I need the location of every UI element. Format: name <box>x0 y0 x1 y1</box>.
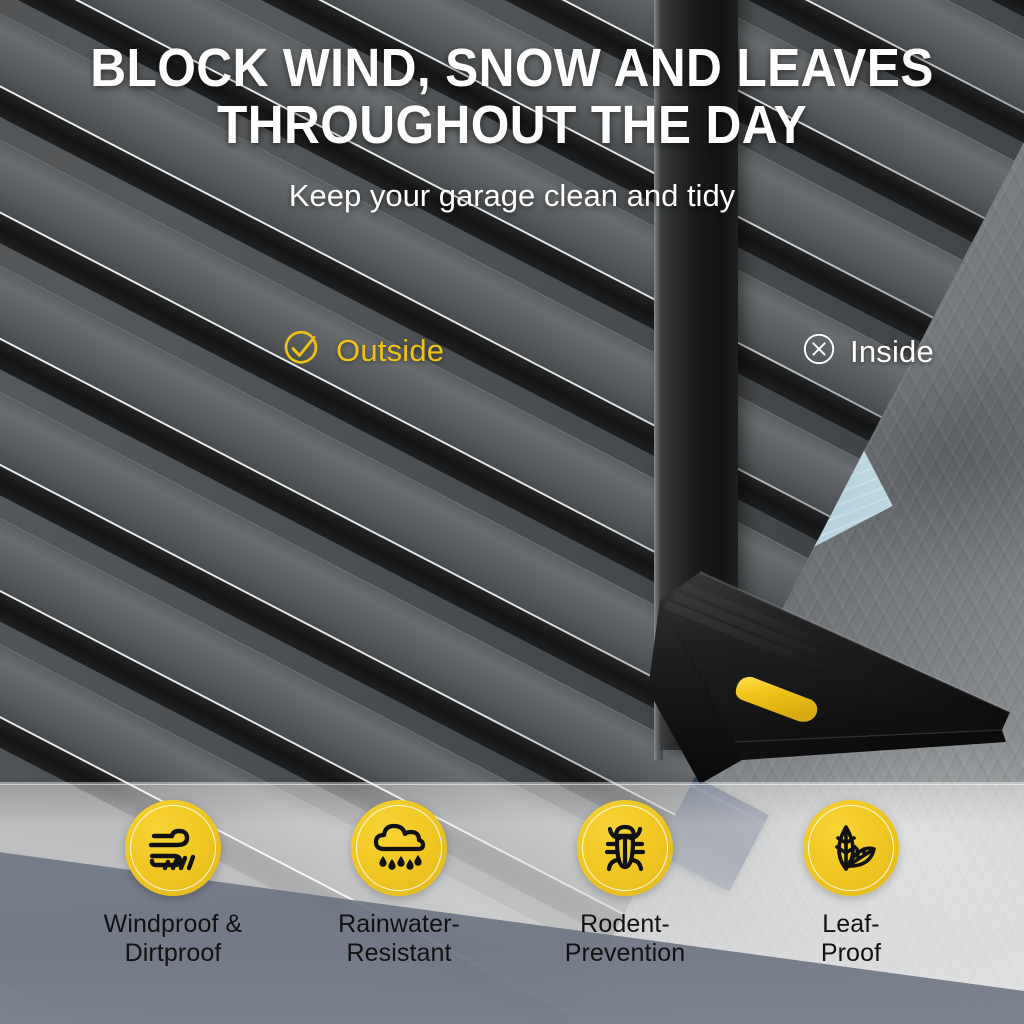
feature-label-line-2: Prevention <box>565 939 686 968</box>
feature-label: Leaf- Proof <box>821 910 881 968</box>
feature-leaf: Leaf- Proof <box>738 800 964 968</box>
feature-badge <box>125 800 221 896</box>
feature-label: Rodent- Prevention <box>565 910 686 968</box>
x-circle-icon <box>800 330 838 373</box>
subheadline: Keep your garage clean and tidy <box>0 178 1024 214</box>
headline-line-1: BLOCK WIND, SNOW AND LEAVES <box>41 40 983 97</box>
marker-inside-label: Inside <box>850 334 934 370</box>
feature-rodent: Rodent- Prevention <box>512 800 738 968</box>
product-marketing-image: BLOCK WIND, SNOW AND LEAVES THROUGHOUT T… <box>0 0 1024 1024</box>
feature-label-line-2: Dirtproof <box>104 939 243 968</box>
feature-label: Windproof & Dirtproof <box>104 910 243 968</box>
bug-icon <box>596 819 654 877</box>
feature-badge <box>577 800 673 896</box>
feature-label-line-1: Leaf- <box>821 910 881 939</box>
feature-badge <box>803 800 899 896</box>
feature-label-line-1: Rodent- <box>565 910 686 939</box>
marker-outside-label: Outside <box>336 333 444 369</box>
headline: BLOCK WIND, SNOW AND LEAVES THROUGHOUT T… <box>0 40 1024 154</box>
feature-label-line-2: Resistant <box>338 939 460 968</box>
feature-label-line-1: Windproof & <box>104 910 243 939</box>
feature-label: Rainwater- Resistant <box>338 910 460 968</box>
feature-label-line-2: Proof <box>821 939 881 968</box>
rain-cloud-icon <box>368 817 430 879</box>
feature-list: Windproof & Dirtproof <box>0 800 1024 1024</box>
bottom-divider-line <box>0 784 1024 785</box>
leaf-icon <box>822 819 880 877</box>
feature-label-line-1: Rainwater- <box>338 910 460 939</box>
marker-outside: Outside <box>278 325 444 376</box>
marker-inside: Inside <box>800 330 934 373</box>
feature-windproof: Windproof & Dirtproof <box>60 800 286 968</box>
feature-badge <box>351 800 447 896</box>
wind-icon <box>143 818 203 878</box>
check-circle-icon <box>278 325 324 376</box>
headline-line-2: THROUGHOUT THE DAY <box>41 97 983 154</box>
feature-rainwater: Rainwater- Resistant <box>286 800 512 968</box>
